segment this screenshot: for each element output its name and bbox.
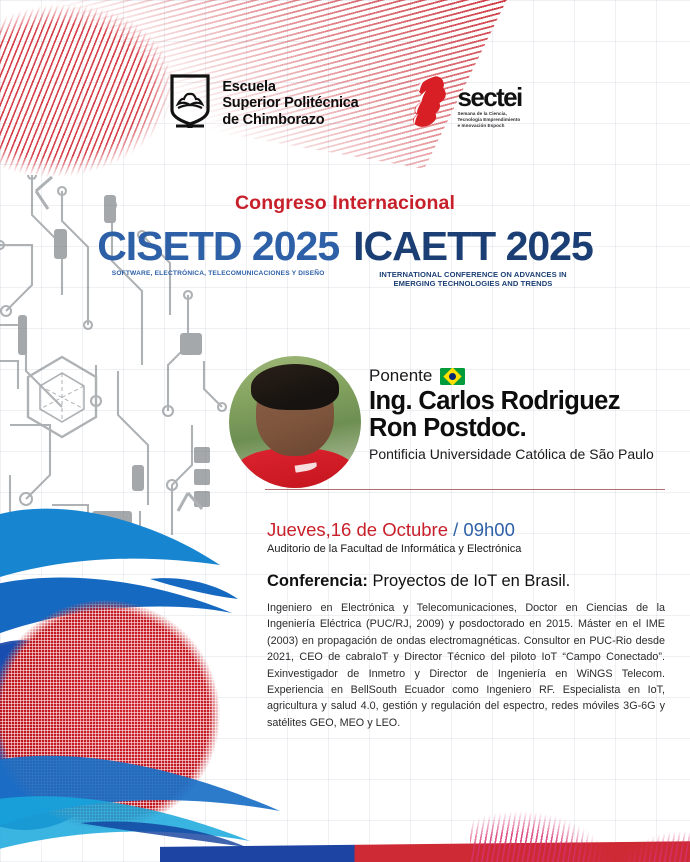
ponente-row: Ponente (369, 366, 669, 386)
conference-titles: CISETD 2025 SOFTWARE, ELECTRÓNICA, TELEC… (0, 226, 690, 288)
espoch-line-1: Escuela (222, 79, 358, 95)
sectei-logo: sectei Semana de la Ciencia, Tecnología … (407, 74, 522, 137)
sectei-name: sectei (458, 86, 522, 109)
pink-stripe-wave-decoration (470, 722, 690, 862)
cisetd-title-block: CISETD 2025 SOFTWARE, ELECTRÓNICA, TELEC… (97, 226, 339, 277)
conference-label: Conferencia: (267, 572, 368, 590)
blue-wave-decoration (0, 495, 270, 745)
speaker-affiliation: Pontificia Universidade Católica de São … (369, 446, 669, 463)
espoch-line-2: Superior Politécnica (222, 95, 358, 111)
event-venue: Auditorio de la Facultad de Informática … (267, 543, 667, 555)
cisetd-name: CISETD 2025 (97, 226, 339, 267)
sectei-subtitle: Semana de la Ciencia, Tecnología Emprend… (458, 111, 522, 129)
blue-wave-lower-decoration (0, 745, 290, 862)
cisetd-subtitle: SOFTWARE, ELECTRÓNICA, TELECOMUNICACIONE… (97, 270, 339, 277)
date-time-line: Jueves,16 de Octubre / 09h00 (267, 519, 667, 540)
speaker-name-line-1: Ing. Carlos Rodriguez (369, 388, 669, 415)
speaker-name: Ing. Carlos Rodriguez Ron Postdoc. (369, 388, 669, 441)
espoch-logo: Escuela Superior Politécnica de Chimbora… (168, 74, 358, 133)
shield-mountain-icon (168, 74, 212, 133)
schedule-block: Jueves,16 de Octubre / 09h00 Auditorio d… (267, 519, 667, 591)
conference-topic-line: Conferencia: Proyectos de IoT en Brasil. (267, 572, 667, 591)
red-halftone-circle-decoration (0, 600, 220, 830)
bottom-color-strip-decoration (160, 841, 690, 862)
blue-circle-decoration (0, 640, 120, 830)
sectei-subtitle-line-3: e Innovación Espoch (458, 123, 522, 129)
speaker-info: Ponente Ing. Carlos Rodriguez Ron Postdo… (369, 366, 669, 463)
flag-globe (449, 373, 456, 380)
espoch-logo-text: Escuela Superior Politécnica de Chimbora… (222, 79, 358, 128)
ponente-label: Ponente (369, 366, 432, 386)
icaett-title-block: ICAETT 2025 INTERNATIONAL CONFERENCE ON … (353, 226, 593, 288)
speaker-biography: Ingeniero en Electrónica y Telecomunicac… (267, 600, 665, 731)
conference-title: Proyectos de IoT en Brasil. (372, 572, 570, 590)
icaett-subtitle-line-2: EMERGING TECHNOLOGIES AND TRENDS (353, 279, 593, 288)
conference-poster: Escuela Superior Politécnica de Chimbora… (0, 0, 690, 862)
logo-bar: Escuela Superior Politécnica de Chimbora… (0, 74, 690, 137)
sectei-mark-icon (407, 74, 451, 137)
sectei-wordmark: sectei Semana de la Ciencia, Tecnología … (458, 82, 522, 130)
brazil-flag-icon (440, 368, 465, 385)
congreso-internacional-kicker: Congreso Internacional (0, 192, 690, 215)
event-date: Jueves,16 de Octubre (267, 519, 448, 540)
section-divider (265, 489, 665, 490)
icaett-name: ICAETT 2025 (353, 226, 593, 267)
speaker-name-line-2: Ron Postdoc. (369, 415, 669, 442)
icaett-subtitle-line-1: INTERNATIONAL CONFERENCE ON ADVANCES IN (353, 270, 593, 279)
speaker-photo (229, 356, 361, 488)
espoch-line-3: de Chimborazo (222, 112, 358, 128)
event-time: / 09h00 (453, 519, 515, 540)
speaker-hair (251, 364, 339, 410)
icaett-subtitle: INTERNATIONAL CONFERENCE ON ADVANCES IN … (353, 270, 593, 288)
